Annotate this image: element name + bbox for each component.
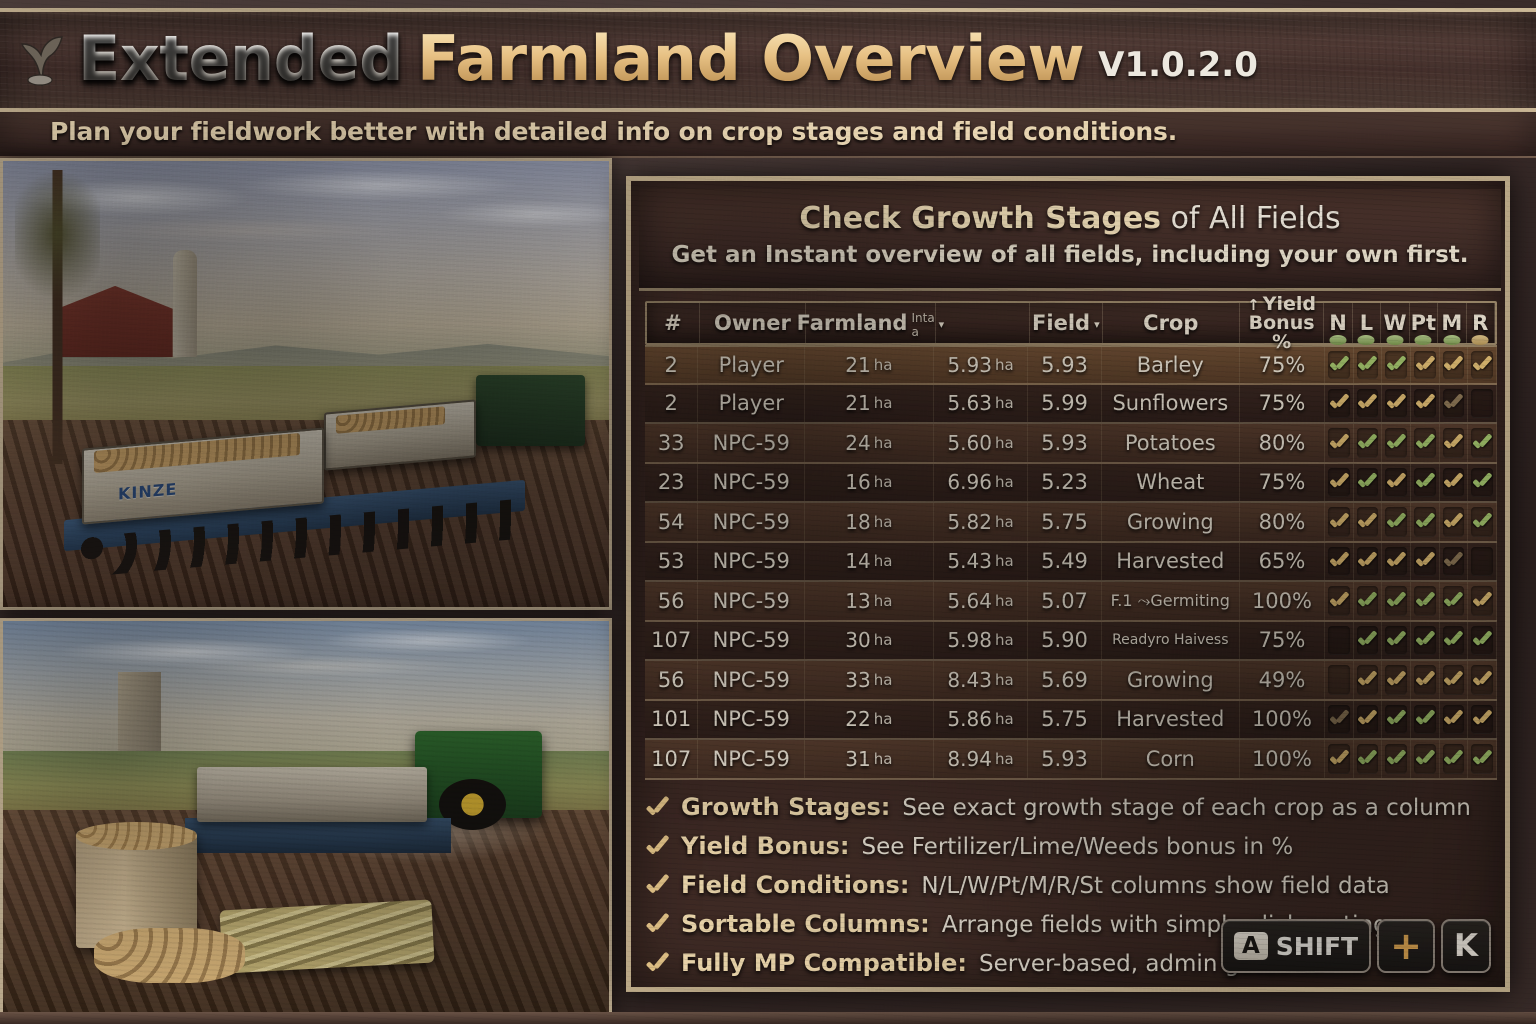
cell-num: 101 [645, 701, 698, 739]
empty-cond-icon [1472, 395, 1492, 411]
feature-description: See Fertilizer/Lime/Weeds bonus in % [861, 834, 1293, 860]
cell-owner: NPC-59 [698, 582, 805, 620]
cell-crop: Growing [1102, 661, 1240, 699]
check-icon [1472, 514, 1492, 530]
check-icon [1329, 357, 1349, 373]
cell-cond-m [1440, 582, 1469, 620]
cell-field-size: 5.93ha [934, 347, 1029, 383]
table-row[interactable]: 2Player21ha5.63ha5.99Sunflowers75% [645, 385, 1497, 425]
cell-cond-r [1468, 385, 1497, 423]
subtitle-text: Plan your fieldwork better with detailed… [50, 117, 1177, 146]
cell-yield-bonus: 75% [1240, 347, 1325, 383]
version-label: V1.0.2.0 [1098, 45, 1258, 85]
cell-field: 5.75 [1028, 701, 1101, 739]
cell-cond-m [1440, 661, 1469, 699]
cell-cond-n [1325, 424, 1354, 462]
cell-cond-w [1382, 385, 1411, 423]
check-icon [1415, 711, 1435, 727]
table-row[interactable]: 107NPC-5931ha8.94ha5.93Corn100% [645, 740, 1497, 780]
cell-field-size: 5.43ha [934, 543, 1029, 581]
check-icon [1357, 751, 1377, 767]
cell-field-size: 5.98ha [934, 622, 1029, 660]
cell-field-size: 8.43ha [934, 661, 1029, 699]
cell-yield-bonus: 65% [1240, 543, 1325, 581]
cell-num: 23 [645, 464, 698, 502]
feature-description: N/L/W/Pt/M/R/St columns show field data [921, 873, 1389, 899]
column-header-field-label: Field [1032, 311, 1090, 335]
cell-owner: Player [698, 385, 805, 423]
check-icon [645, 916, 669, 935]
cell-field: 5.93 [1028, 347, 1101, 383]
cell-crop: Sunflowers [1102, 385, 1240, 423]
check-icon [1415, 553, 1435, 569]
cell-cond-m [1440, 543, 1469, 581]
leaf-icon [1415, 335, 1432, 345]
column-header-cond-pt[interactable]: Pt [1410, 303, 1438, 343]
cell-farmland: 21ha [805, 385, 933, 423]
cell-cond-m [1440, 347, 1469, 383]
cell-cond-n [1325, 622, 1354, 660]
cell-cond-l [1354, 543, 1383, 581]
check-icon [1357, 632, 1377, 648]
check-icon [1357, 593, 1377, 609]
check-icon [1472, 751, 1492, 767]
cell-field: 5.49 [1028, 543, 1101, 581]
seed-planter [197, 767, 427, 822]
cell-field-size: 6.96ha [934, 464, 1029, 502]
check-icon [1415, 395, 1435, 411]
empty-cond-icon [1472, 553, 1492, 569]
potato-sack-top [76, 822, 197, 850]
cell-crop: Harvested [1102, 701, 1240, 739]
potato-pile [94, 928, 246, 983]
cell-crop: Potatoes [1102, 424, 1240, 462]
cell-cond-l [1354, 740, 1383, 778]
chevron-down-icon[interactable]: ▾ [1094, 318, 1100, 331]
cell-field-size: 5.86ha [934, 701, 1029, 739]
feature-item: Yield Bonus:See Fertilizer/Lime/Weeds bo… [645, 832, 1501, 860]
cond-label-n: N [1329, 311, 1347, 335]
cell-owner: NPC-59 [698, 701, 805, 739]
page-title-part2: Farmland Overview [417, 28, 1084, 90]
keyboard-shortcut-badges: A SHIFT + K [1221, 919, 1491, 973]
cell-num: 107 [645, 622, 698, 660]
check-icon [1472, 474, 1492, 490]
column-header-field[interactable]: Field ▾ [1030, 303, 1103, 343]
check-icon [1329, 435, 1349, 451]
check-icon [1357, 514, 1377, 530]
cell-cond-l [1354, 424, 1383, 462]
cell-farmland: 24ha [805, 424, 933, 462]
cell-cond-pt [1411, 543, 1440, 581]
check-icon [1443, 751, 1463, 767]
empty-cond-icon [1329, 672, 1349, 688]
cell-farmland: 16ha [805, 464, 933, 502]
panel-header: Check Growth Stages of All Fields Get an… [639, 189, 1501, 291]
column-header-farmland[interactable]: Farmland Inta a ▾ [806, 303, 936, 343]
check-icon [645, 955, 669, 974]
cell-cond-w [1382, 740, 1411, 778]
cell-field-size: 5.64ha [934, 582, 1029, 620]
cell-cond-pt [1411, 464, 1440, 502]
cell-cond-w [1382, 464, 1411, 502]
panel-subtitle: Get an Instant overview of all fields, i… [639, 242, 1501, 268]
planter-toolbar [185, 818, 452, 853]
cell-field-size: 8.94ha [934, 740, 1029, 778]
check-icon [1357, 672, 1377, 688]
tractor [476, 375, 585, 446]
table-row[interactable]: 107NPC-5930ha5.98ha5.90Readyro Haivess75… [645, 622, 1497, 662]
panel-title-bold: Check Growth Stages [799, 201, 1161, 236]
cell-cond-r [1468, 740, 1497, 778]
fields-table: # Owner Farmland Inta a ▾ Field ▾ Crop ↑… [645, 301, 1497, 780]
check-icon [1386, 474, 1406, 490]
cell-cond-l [1354, 385, 1383, 423]
check-icon [1415, 593, 1435, 609]
cell-num: 53 [645, 543, 698, 581]
page-title-part1: Extended [78, 28, 403, 90]
table-row[interactable]: 56NPC-5913ha5.64ha5.07F.1 ⤳Germiting100% [645, 582, 1497, 622]
column-header-yield-bonus[interactable]: ↑Yield Bonus % [1240, 303, 1324, 343]
check-icon [1329, 711, 1349, 727]
feature-description: See exact growth stage of each crop as a… [902, 795, 1470, 821]
check-icon [1472, 593, 1492, 609]
check-icon [1443, 672, 1463, 688]
bottom-strip [0, 1012, 1536, 1024]
check-icon [1415, 751, 1435, 767]
title-row: Extended Farmland Overview V1.0.2.0 [20, 22, 1258, 90]
cell-num: 56 [645, 582, 698, 620]
cell-cond-l [1354, 622, 1383, 660]
check-icon [1357, 435, 1377, 451]
cell-cond-r [1468, 347, 1497, 383]
cell-field: 5.23 [1028, 464, 1101, 502]
cell-cond-n [1325, 701, 1354, 739]
tree [15, 170, 100, 464]
table-row[interactable]: 54NPC-5918ha5.82ha5.75Growing80% [645, 503, 1497, 543]
cell-crop: Growing [1102, 503, 1240, 541]
table-row[interactable]: 56NPC-5933ha8.43ha5.69Growing49% [645, 661, 1497, 701]
cell-num: 56 [645, 661, 698, 699]
plus-icon: + [1390, 932, 1422, 961]
check-icon [1415, 435, 1435, 451]
shift-key-badge[interactable]: A SHIFT [1221, 919, 1371, 973]
cell-field: 5.90 [1028, 622, 1101, 660]
column-header-cond-m[interactable]: M [1438, 303, 1466, 343]
cell-cond-w [1382, 543, 1411, 581]
column-header-cond-r[interactable]: R [1467, 303, 1495, 343]
check-icon [1443, 435, 1463, 451]
check-icon [1472, 632, 1492, 648]
cell-field-size: 5.63ha [934, 385, 1029, 423]
cell-crop: Readyro Haivess [1102, 622, 1240, 660]
cell-cond-m [1440, 740, 1469, 778]
cell-cond-m [1440, 503, 1469, 541]
cell-cond-r [1468, 582, 1497, 620]
check-icon [1386, 435, 1406, 451]
cell-cond-n [1325, 582, 1354, 620]
cell-field: 5.07 [1028, 582, 1101, 620]
cell-cond-n [1325, 543, 1354, 581]
cell-crop: Barley [1102, 347, 1240, 383]
cell-cond-m [1440, 701, 1469, 739]
cell-cond-w [1382, 424, 1411, 462]
table-header-row: # Owner Farmland Inta a ▾ Field ▾ Crop ↑… [645, 301, 1497, 345]
check-icon [1329, 514, 1349, 530]
cell-cond-l [1354, 661, 1383, 699]
cell-field-size: 5.82ha [934, 503, 1029, 541]
cell-farmland: 30ha [805, 622, 933, 660]
cell-yield-bonus: 75% [1240, 622, 1325, 660]
cell-crop: Corn [1102, 740, 1240, 778]
cell-farmland: 13ha [805, 582, 933, 620]
check-icon [1329, 474, 1349, 490]
table-row[interactable]: 2Player21ha5.93ha5.93Barley75% [645, 345, 1497, 385]
table-row[interactable]: 33NPC-5924ha5.60ha5.93Potatoes80% [645, 424, 1497, 464]
cell-cond-m [1440, 464, 1469, 502]
check-icon [1472, 435, 1492, 451]
cell-cond-l [1354, 701, 1383, 739]
check-icon [1472, 672, 1492, 688]
cell-crop: Harvested [1102, 543, 1240, 581]
cell-cond-l [1354, 582, 1383, 620]
cell-owner: NPC-59 [698, 543, 805, 581]
cell-cond-n [1325, 740, 1354, 778]
cell-farmland: 33ha [805, 661, 933, 699]
cell-field: 5.93 [1028, 740, 1101, 778]
cell-cond-r [1468, 622, 1497, 660]
feature-item: Growth Stages:See exact growth stage of … [645, 793, 1501, 821]
check-icon [1386, 672, 1406, 688]
check-icon [1329, 553, 1349, 569]
column-header-cond-n[interactable]: N [1324, 303, 1352, 343]
cond-label-m: M [1441, 311, 1462, 335]
check-icon [1386, 514, 1406, 530]
cell-cond-r [1468, 503, 1497, 541]
cell-field: 5.75 [1028, 503, 1101, 541]
header-banner: Extended Farmland Overview V1.0.2.0 [0, 8, 1536, 112]
cell-cond-n [1325, 661, 1354, 699]
column-header-farmland-label: Farmland [797, 311, 908, 335]
check-icon [1357, 711, 1377, 727]
feature-title: Growth Stages: [681, 793, 890, 821]
table-row[interactable]: 101NPC-5922ha5.86ha5.75Harvested100% [645, 701, 1497, 741]
column-header-cond-w[interactable]: W [1381, 303, 1409, 343]
check-icon [1443, 593, 1463, 609]
cell-cond-w [1382, 582, 1411, 620]
cell-owner: NPC-59 [698, 661, 805, 699]
check-icon [1357, 474, 1377, 490]
column-header-owner[interactable]: Owner [700, 303, 806, 343]
cell-yield-bonus: 80% [1240, 503, 1325, 541]
table-body: 2Player21ha5.93ha5.93Barley75%2Player21h… [645, 345, 1497, 780]
check-icon [1386, 593, 1406, 609]
check-icon [1443, 711, 1463, 727]
cell-cond-r [1468, 661, 1497, 699]
check-icon [1329, 395, 1349, 411]
cell-cond-pt [1411, 347, 1440, 383]
cell-cond-l [1354, 347, 1383, 383]
cell-farmland: 21ha [805, 347, 933, 383]
cell-cond-l [1354, 503, 1383, 541]
cell-num: 107 [645, 740, 698, 778]
cell-farmland: 22ha [805, 701, 933, 739]
cell-cond-w [1382, 347, 1411, 383]
growth-stages-panel: Check Growth Stages of All Fields Get an… [626, 176, 1510, 992]
cell-field: 5.93 [1028, 424, 1101, 462]
check-icon [1415, 474, 1435, 490]
check-icon [1415, 632, 1435, 648]
check-icon [645, 838, 669, 857]
check-icon [1472, 711, 1492, 727]
cell-farmland: 31ha [805, 740, 933, 778]
feature-title: Sortable Columns: [681, 910, 930, 938]
check-icon [1443, 553, 1463, 569]
empty-cond-icon [1329, 632, 1349, 648]
grain-silo [118, 672, 160, 751]
k-key-badge[interactable]: K [1441, 919, 1491, 973]
check-icon [1415, 514, 1435, 530]
cell-owner: NPC-59 [698, 424, 805, 462]
check-icon [1329, 751, 1349, 767]
cell-owner: NPC-59 [698, 503, 805, 541]
key-letter-a: A [1234, 932, 1268, 960]
cell-cond-w [1382, 622, 1411, 660]
cell-cond-pt [1411, 582, 1440, 620]
cell-num: 54 [645, 503, 698, 541]
feature-title: Field Conditions: [681, 871, 909, 899]
check-icon [1443, 395, 1463, 411]
tractor-planter-field-photo [0, 618, 612, 1018]
cell-yield-bonus: 49% [1240, 661, 1325, 699]
cell-cond-w [1382, 701, 1411, 739]
cell-yield-bonus: 100% [1240, 701, 1325, 739]
cell-field: 5.99 [1028, 385, 1101, 423]
column-header-num[interactable]: # [647, 303, 700, 343]
cell-cond-w [1382, 661, 1411, 699]
check-icon [645, 877, 669, 896]
cell-yield-bonus: 75% [1240, 385, 1325, 423]
cell-yield-bonus: 100% [1240, 582, 1325, 620]
cond-label-l: L [1360, 311, 1373, 335]
cell-crop: Wheat [1102, 464, 1240, 502]
check-icon [1443, 357, 1463, 373]
cell-cond-pt [1411, 701, 1440, 739]
cane-bundle [220, 899, 435, 973]
check-icon [1386, 632, 1406, 648]
check-icon [1357, 553, 1377, 569]
column-header-farmland-unit: Inta a [911, 311, 934, 339]
sprout-icon [20, 30, 64, 88]
leaf-icon [1329, 335, 1346, 345]
cell-cond-r [1468, 701, 1497, 739]
cond-label-r: R [1472, 311, 1488, 335]
cell-cond-pt [1411, 385, 1440, 423]
silo [173, 250, 197, 357]
panel-title: Check Growth Stages of All Fields [639, 201, 1501, 236]
cell-cond-m [1440, 622, 1469, 660]
cell-owner: Player [698, 347, 805, 383]
cell-cond-pt [1411, 503, 1440, 541]
table-row[interactable]: 53NPC-5914ha5.43ha5.49Harvested65% [645, 543, 1497, 583]
panel-title-light: of All Fields [1161, 201, 1341, 236]
check-icon [1472, 357, 1492, 373]
leaf-icon [1472, 335, 1489, 345]
cell-yield-bonus: 100% [1240, 740, 1325, 778]
cell-yield-bonus: 75% [1240, 464, 1325, 502]
cell-cond-m [1440, 385, 1469, 423]
cell-cond-m [1440, 424, 1469, 462]
feature-title: Yield Bonus: [681, 832, 849, 860]
cell-owner: NPC-59 [698, 740, 805, 778]
key-shift-label: SHIFT [1276, 932, 1358, 961]
check-icon [1329, 593, 1349, 609]
feature-title: Fully MP Compatible: [681, 949, 967, 977]
cell-owner: NPC-59 [698, 622, 805, 660]
column-header-crop[interactable]: Crop [1103, 303, 1240, 343]
cell-cond-pt [1411, 622, 1440, 660]
cell-cond-n [1325, 385, 1354, 423]
cell-farmland: 14ha [805, 543, 933, 581]
feature-item: Field Conditions:N/L/W/Pt/M/R/St columns… [645, 871, 1501, 899]
cell-cond-r [1468, 543, 1497, 581]
key-k-label: K [1454, 928, 1478, 964]
cell-num: 2 [645, 385, 698, 423]
column-header-cond-l[interactable]: L [1353, 303, 1381, 343]
cond-label-pt: Pt [1411, 311, 1436, 335]
cell-yield-bonus: 80% [1240, 424, 1325, 462]
plus-key-badge: + [1377, 919, 1435, 973]
leaf-icon [1386, 335, 1403, 345]
cell-cond-w [1382, 503, 1411, 541]
cell-cond-n [1325, 503, 1354, 541]
cell-cond-pt [1411, 661, 1440, 699]
check-icon [1415, 672, 1435, 688]
cell-cond-l [1354, 464, 1383, 502]
cell-cond-pt [1411, 740, 1440, 778]
check-icon [1443, 474, 1463, 490]
cell-cond-n [1325, 347, 1354, 383]
cell-cond-r [1468, 464, 1497, 502]
cell-num: 2 [645, 347, 698, 383]
cell-crop: F.1 ⤳Germiting [1102, 582, 1240, 620]
cell-cond-pt [1411, 424, 1440, 462]
check-icon [1386, 357, 1406, 373]
leaf-icon [1358, 335, 1375, 345]
check-icon [1386, 711, 1406, 727]
check-icon [1386, 395, 1406, 411]
potato-harvest-wagons-photo: KINZE [0, 158, 612, 610]
check-icon [1443, 514, 1463, 530]
table-row[interactable]: 23NPC-5916ha6.96ha5.23Wheat75% [645, 464, 1497, 504]
check-icon [1443, 632, 1463, 648]
app-root: Extended Farmland Overview V1.0.2.0 Plan… [0, 0, 1536, 1024]
cell-farmland: 18ha [805, 503, 933, 541]
cell-cond-n [1325, 464, 1354, 502]
cell-owner: NPC-59 [698, 464, 805, 502]
column-header-field-size[interactable] [936, 303, 1030, 343]
cond-label-w: W [1383, 311, 1406, 335]
check-icon [645, 799, 669, 818]
check-icon [1357, 357, 1377, 373]
cell-field-size: 5.60ha [934, 424, 1029, 462]
check-icon [1386, 751, 1406, 767]
cell-field: 5.69 [1028, 661, 1101, 699]
subtitle-banner: Plan your fieldwork better with detailed… [0, 112, 1536, 158]
cell-num: 33 [645, 424, 698, 462]
check-icon [1415, 357, 1435, 373]
check-icon [1386, 553, 1406, 569]
